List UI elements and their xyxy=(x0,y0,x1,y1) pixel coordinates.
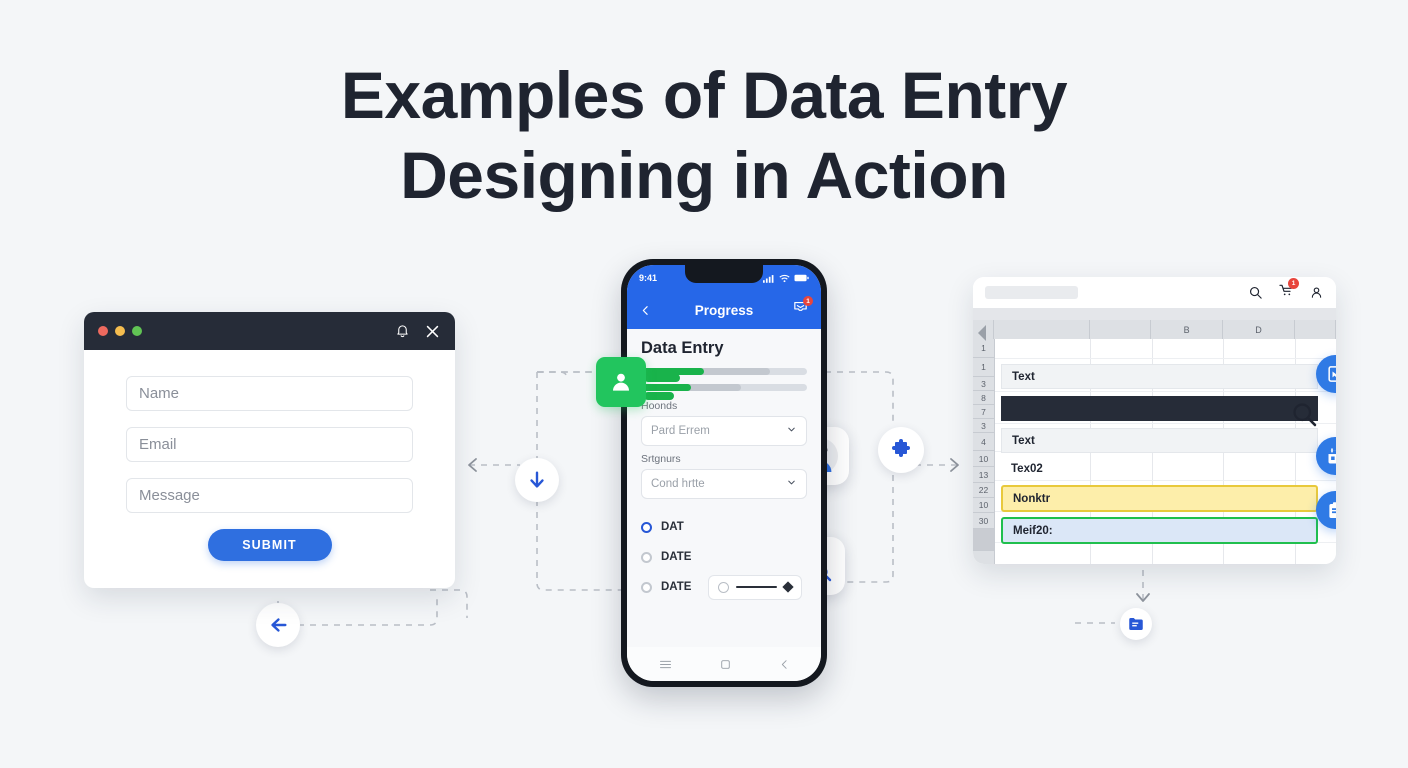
row-number[interactable]: 7 xyxy=(973,405,994,419)
cell-highlight-green[interactable]: Meif20: xyxy=(1001,517,1318,544)
browser-window: Name Email Message SUBMIT xyxy=(84,312,455,588)
row-number[interactable]: 1 xyxy=(973,358,994,377)
spreadsheet-grid: B D 1 1 3 8 7 3 4 10 13 22 10 30 xyxy=(973,320,1336,564)
field-label-2: Srtgnurs xyxy=(641,453,807,465)
row-number[interactable]: 3 xyxy=(973,377,994,391)
search-icon xyxy=(1290,400,1318,428)
bell-icon[interactable] xyxy=(395,324,410,339)
dropdown-1-value: Pard Errem xyxy=(651,425,710,437)
cell-highlight-yellow[interactable]: Nonktr xyxy=(1001,485,1318,512)
slider-track xyxy=(736,586,777,589)
inbox-button[interactable]: 1 xyxy=(792,299,809,321)
search-input[interactable] xyxy=(985,286,1078,299)
green-progress-stub-1 xyxy=(644,374,680,382)
cell-dark-bar[interactable] xyxy=(1001,396,1318,421)
submit-button[interactable]: SUBMIT xyxy=(208,529,332,561)
row-number[interactable]: 13 xyxy=(973,467,994,483)
search-icon[interactable] xyxy=(1248,285,1263,300)
cell-text-1[interactable]: Text xyxy=(1001,364,1318,389)
message-input-placeholder: Message xyxy=(139,487,200,504)
cell-tex02[interactable]: Tex02 xyxy=(1001,456,1318,481)
form-body: Name Email Message SUBMIT xyxy=(84,350,455,561)
dropdown-2-value: Cond hrtte xyxy=(651,478,705,490)
minimize-dot[interactable] xyxy=(115,326,125,336)
green-progress-stub-2 xyxy=(644,392,674,400)
battery-icon xyxy=(794,274,809,282)
wifi-icon xyxy=(779,274,790,283)
maximize-dot[interactable] xyxy=(132,326,142,336)
row-number[interactable]: 4 xyxy=(973,433,994,451)
radio-indicator-selected xyxy=(641,522,652,533)
calendar-icon xyxy=(1325,446,1337,467)
phone-heading: Data Entry xyxy=(641,339,807,358)
phone-screen: 9:41 xyxy=(627,265,821,681)
spreadsheet-toolbar: 1 xyxy=(973,277,1336,308)
row-scroll-handle[interactable] xyxy=(973,529,994,551)
android-navbar xyxy=(627,647,821,681)
traffic-lights xyxy=(98,326,142,336)
radio-indicator xyxy=(641,582,652,593)
close-icon[interactable] xyxy=(424,323,441,340)
email-input[interactable]: Email xyxy=(126,427,413,462)
radio-option-3[interactable]: DATE xyxy=(641,572,807,602)
arrow-down-icon xyxy=(526,469,548,491)
connector-down-arrow-badge[interactable] xyxy=(515,458,559,502)
home-square-icon[interactable] xyxy=(719,658,732,671)
puzzle-piece-icon xyxy=(889,438,913,462)
phone-notch xyxy=(685,265,763,283)
column-header-b[interactable]: B xyxy=(1151,320,1223,339)
dropdown-2[interactable]: Cond hrtte xyxy=(641,469,807,499)
window-titlebar xyxy=(84,312,455,350)
person-icon[interactable] xyxy=(1309,285,1324,300)
dropdown-1[interactable]: Pard Errem xyxy=(641,416,807,446)
radio-label-2: DATE xyxy=(661,551,691,563)
radio-option-1[interactable]: DAT xyxy=(641,512,807,542)
row-number[interactable]: 22 xyxy=(973,483,994,498)
progress-bar-2 xyxy=(641,384,807,391)
diamond-handle-icon[interactable] xyxy=(783,581,794,592)
grid-rows: 1 1 3 8 7 3 4 10 13 22 10 30 xyxy=(973,339,1336,564)
spreadsheet-ribbon xyxy=(973,308,1336,320)
inbox-badge: 1 xyxy=(803,296,813,306)
radio-option-2[interactable]: DATE xyxy=(641,542,807,572)
circle-handle-icon[interactable] xyxy=(718,582,729,593)
person-icon xyxy=(608,369,634,395)
name-input-placeholder: Name xyxy=(139,385,179,402)
phone-appbar: Progress 1 xyxy=(627,291,821,329)
row-number[interactable]: 10 xyxy=(973,451,994,467)
close-dot[interactable] xyxy=(98,326,108,336)
grid-cells: Text Text Tex02 Nonktr Meif20: xyxy=(995,339,1336,564)
arrow-left-icon xyxy=(267,614,289,636)
column-headers: B D xyxy=(973,320,1336,339)
column-header-last[interactable] xyxy=(1295,320,1336,339)
radio-group: DAT DATE DATE xyxy=(641,512,807,602)
slider-control[interactable] xyxy=(708,575,802,600)
connector-left-arrow-badge[interactable] xyxy=(256,603,300,647)
message-input[interactable]: Message xyxy=(126,478,413,513)
radio-label-1: DAT xyxy=(661,521,684,533)
name-input[interactable]: Name xyxy=(126,376,413,411)
radio-label-3: DATE xyxy=(661,581,691,593)
phone-content: Data Entry Hoonds Pard Errem Srtgnurs xyxy=(627,329,821,602)
email-input-placeholder: Email xyxy=(139,436,177,453)
connector-puzzle-badge[interactable] xyxy=(878,427,924,473)
green-person-tag[interactable] xyxy=(596,357,646,407)
clipboard-cursor-icon xyxy=(1325,364,1336,384)
chevron-down-icon xyxy=(786,424,797,438)
connector-folder-badge[interactable] xyxy=(1120,608,1152,640)
row-number[interactable]: 8 xyxy=(973,391,994,405)
cell-text-2[interactable]: Text xyxy=(1001,428,1318,453)
cart-button[interactable]: 1 xyxy=(1278,282,1294,303)
signal-icon xyxy=(763,274,775,283)
row-number[interactable]: 30 xyxy=(973,513,994,529)
poster-canvas: Examples of Data Entry Designing in Acti… xyxy=(0,0,1408,768)
cart-badge: 1 xyxy=(1288,278,1299,289)
menu-icon[interactable] xyxy=(658,657,673,672)
folder-icon xyxy=(1127,615,1145,633)
grid-search-icon-wrap[interactable] xyxy=(1290,400,1318,433)
clipboard-form-icon xyxy=(1325,500,1337,521)
column-header-blank[interactable] xyxy=(1090,320,1152,339)
status-time: 9:41 xyxy=(639,273,657,283)
column-header-d[interactable]: D xyxy=(1223,320,1295,339)
row-headers: 1 1 3 8 7 3 4 10 13 22 10 30 xyxy=(973,339,995,564)
radio-indicator xyxy=(641,552,652,563)
back-chevron-icon[interactable] xyxy=(778,658,791,671)
progress-bar-2-fill xyxy=(641,384,691,391)
column-header-a[interactable] xyxy=(994,320,1090,339)
row-number[interactable]: 10 xyxy=(973,498,994,513)
field-label-1: Hoonds xyxy=(641,400,807,412)
phone-mockup: 9:41 xyxy=(621,259,827,687)
row-number[interactable]: 3 xyxy=(973,419,994,433)
spreadsheet-panel: 1 B D 1 1 3 xyxy=(973,277,1336,564)
select-all-corner[interactable] xyxy=(973,320,994,339)
row-number[interactable]: 1 xyxy=(973,339,994,358)
chevron-down-icon xyxy=(786,477,797,491)
